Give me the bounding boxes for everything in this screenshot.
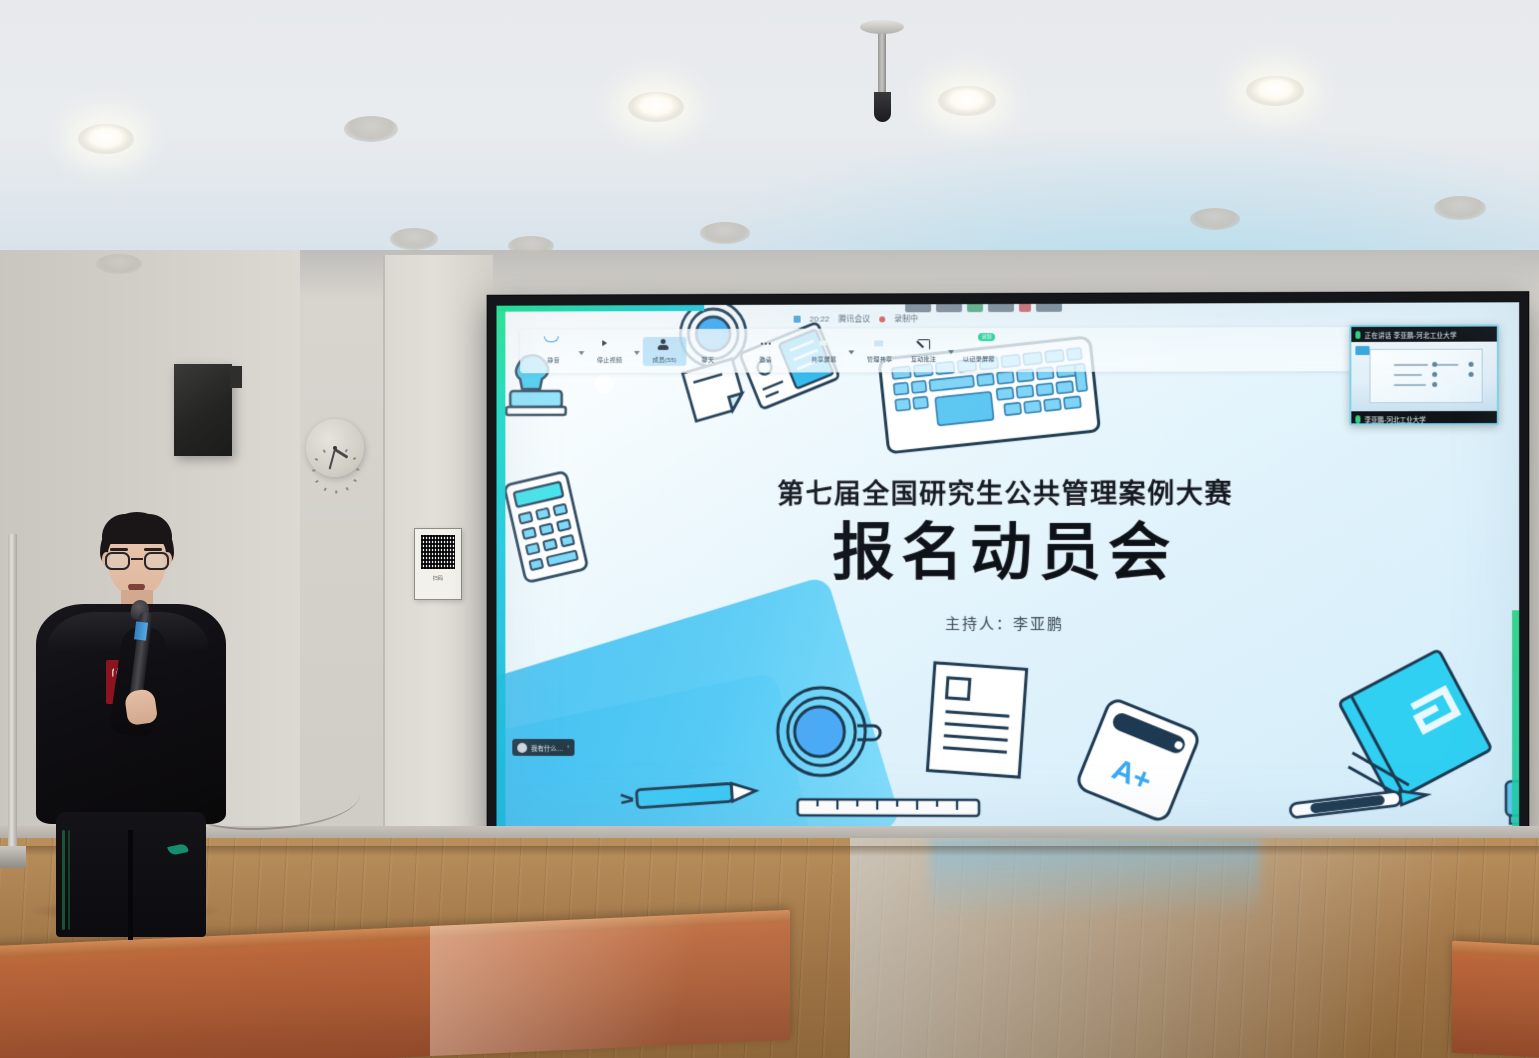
speaker-thumbnail[interactable]: 正在讲话 李亚鹏-河北工业大学 李亚鹏-河北 xyxy=(1349,324,1499,425)
bench-top-rail xyxy=(1452,941,1539,963)
speaker-thumbnail-video xyxy=(1351,342,1496,412)
presenter-leg-gap xyxy=(128,830,133,940)
thumbnail-mini-dot xyxy=(1469,372,1474,377)
avatar xyxy=(517,742,527,752)
glasses-lens-left xyxy=(105,552,130,570)
illustration-pencil-bottom xyxy=(617,775,796,815)
meeting-app-name: 腾讯会议 xyxy=(838,313,870,324)
ceiling-projector xyxy=(874,92,891,122)
speaker-thumbnail-footer: 李亚鹏-河北工业大学 xyxy=(1351,411,1496,425)
thumbnail-mini-dot xyxy=(1469,362,1474,367)
microphone-band xyxy=(134,621,148,640)
chat-pill-text: 我有什么… xyxy=(531,742,563,752)
illustration-pen-bottom-right xyxy=(1280,783,1451,822)
toolbar-button-invite[interactable]: 邀请 xyxy=(744,336,788,365)
toolbar-button-manage-share[interactable]: 管理共享 xyxy=(857,336,901,365)
microphone-active-icon xyxy=(1355,330,1360,338)
slide-text-block: 第七届全国研究生公共管理案例大赛 报名动员会 主持人：李亚鹏 xyxy=(496,471,1519,634)
speaking-label: 正在讲话 李亚鹏-河北工业大学 xyxy=(1364,329,1456,339)
toolbar-label: 聊天 xyxy=(702,354,715,363)
thumbnail-mini-dot xyxy=(1432,362,1437,367)
chevron-left-icon[interactable]: ‹ xyxy=(567,744,569,751)
page-title: 报名动员会 xyxy=(496,521,1519,587)
toolbar-button-participants[interactable]: 成员(55) xyxy=(643,336,687,365)
glasses-bridge xyxy=(131,558,143,560)
ceiling-light-off xyxy=(344,116,398,142)
presenter xyxy=(18,500,248,930)
chevron-down-icon[interactable] xyxy=(578,351,584,355)
thumbnail-mini-row xyxy=(1394,364,1428,366)
lecture-hall-scene: 扫码 xyxy=(0,0,1539,1058)
qr-code-poster: 扫码 xyxy=(414,528,462,600)
toolbar-button-annotate[interactable]: 互动批注 xyxy=(901,336,945,365)
chat-notification-pill[interactable]: 我有什么… ‹ xyxy=(512,739,574,756)
meeting-status-bar: 20:22 腾讯会议 录制中 xyxy=(794,309,1214,327)
toolbar-button-record-screen[interactable]: 录制 以记录屏幕 xyxy=(957,336,1001,365)
clock-center xyxy=(333,446,337,450)
screen-content: A+ xyxy=(496,302,1519,832)
ceiling-light-off xyxy=(508,236,554,256)
bench-front-right xyxy=(1452,941,1539,1058)
ceiling-light-off xyxy=(700,222,750,244)
presenter-brow-left xyxy=(110,548,128,551)
presenter-fringe xyxy=(102,514,172,544)
annotate-icon xyxy=(916,338,931,351)
toolbar-label: 成员(55) xyxy=(652,354,676,364)
thumbnail-mini-row xyxy=(1394,374,1422,376)
bench-gloss xyxy=(430,910,790,1056)
ceiling-light-on xyxy=(628,92,684,122)
toolbar-button-chat[interactable]: 聊天 xyxy=(686,336,730,365)
mic-stand-pole xyxy=(8,534,17,864)
pants-stripe xyxy=(68,830,70,930)
recording-indicator-icon xyxy=(879,316,885,322)
ceiling-light-off xyxy=(390,228,438,250)
ceiling-light-on xyxy=(938,86,996,116)
toolbar-label: 静音 xyxy=(547,354,560,363)
recording-label: 录制中 xyxy=(894,313,918,324)
microphone-icon xyxy=(546,339,561,352)
glasses-icon xyxy=(104,552,170,570)
toolbar-button-mute[interactable]: 静音 xyxy=(532,337,575,366)
screen-edge-glow-left xyxy=(496,306,505,830)
speaker-thumbnail-header: 正在讲话 李亚鹏-河北工业大学 xyxy=(1351,326,1496,342)
toolbar-label: 以记录屏幕 xyxy=(963,353,995,363)
thumbnail-mini-badge xyxy=(1355,346,1369,355)
ceiling-light-off xyxy=(96,254,142,274)
meeting-time: 20:22 xyxy=(810,315,830,324)
ceiling-light-on xyxy=(78,124,134,154)
toolbar-label: 互动批注 xyxy=(910,353,935,363)
toolbar-button-stop-video[interactable]: 停止视频 xyxy=(587,337,631,366)
qr-code-icon xyxy=(421,535,455,569)
microphone-active-icon xyxy=(1355,415,1360,423)
toolbar-label: 共享屏幕 xyxy=(811,353,836,363)
projector-mount xyxy=(878,28,886,94)
wall-speaker xyxy=(174,364,232,456)
glasses-lens-right xyxy=(144,552,169,570)
participants-icon xyxy=(657,338,672,351)
more-dots-icon xyxy=(758,338,773,351)
camera-icon xyxy=(602,339,617,352)
thumbnail-mini-row xyxy=(1394,384,1426,386)
presenter-brow-right xyxy=(144,548,162,551)
thumbnail-mini-screen xyxy=(1370,349,1483,404)
thumbnail-mini-dot xyxy=(1432,382,1437,387)
pants-stripe xyxy=(62,830,65,930)
ceiling-light-off xyxy=(1190,208,1240,230)
illustration-coffee-cup xyxy=(772,682,881,784)
wall-clock xyxy=(306,419,364,477)
toolbar-label: 邀请 xyxy=(759,353,772,363)
meeting-app-icon xyxy=(794,316,801,323)
toolbar-button-share-screen[interactable]: 共享屏幕 xyxy=(802,336,846,365)
thumbnail-mini-row xyxy=(1436,364,1458,366)
screen-edge-glow-right xyxy=(1512,610,1519,833)
chevron-down-icon[interactable] xyxy=(948,350,954,354)
chevron-down-icon[interactable] xyxy=(634,351,640,355)
slide-host-line: 主持人：李亚鹏 xyxy=(496,612,1519,634)
speaker-name: 李亚鹏-河北工业大学 xyxy=(1364,414,1425,424)
illustration-bubble-dot xyxy=(591,371,617,397)
illustration-document xyxy=(917,656,1037,784)
chevron-down-icon[interactable] xyxy=(848,350,854,354)
ceiling-light-on xyxy=(1246,76,1304,106)
ceiling-light-off xyxy=(1434,196,1486,220)
screen-edge-glow-top xyxy=(496,305,704,312)
illustration-ruler-bottom xyxy=(794,789,983,824)
illustration-book xyxy=(1346,656,1498,799)
slide-kicker: 第七届全国研究生公共管理案例大赛 xyxy=(496,471,1519,511)
illustration-tablet-grade: A+ xyxy=(1073,704,1203,821)
chat-icon xyxy=(701,338,716,351)
record-badge: 录制 xyxy=(979,333,995,341)
thumbnail-mini-dot xyxy=(1432,372,1437,377)
qr-poster-caption: 扫码 xyxy=(433,575,444,582)
projection-screen: A+ xyxy=(488,292,1529,844)
whiteboard-icon xyxy=(872,338,887,351)
toolbar-label: 管理共享 xyxy=(867,353,892,363)
share-screen-icon xyxy=(816,338,831,351)
toolbar-label: 停止视频 xyxy=(597,354,622,364)
record-icon: 录制 xyxy=(972,338,987,351)
